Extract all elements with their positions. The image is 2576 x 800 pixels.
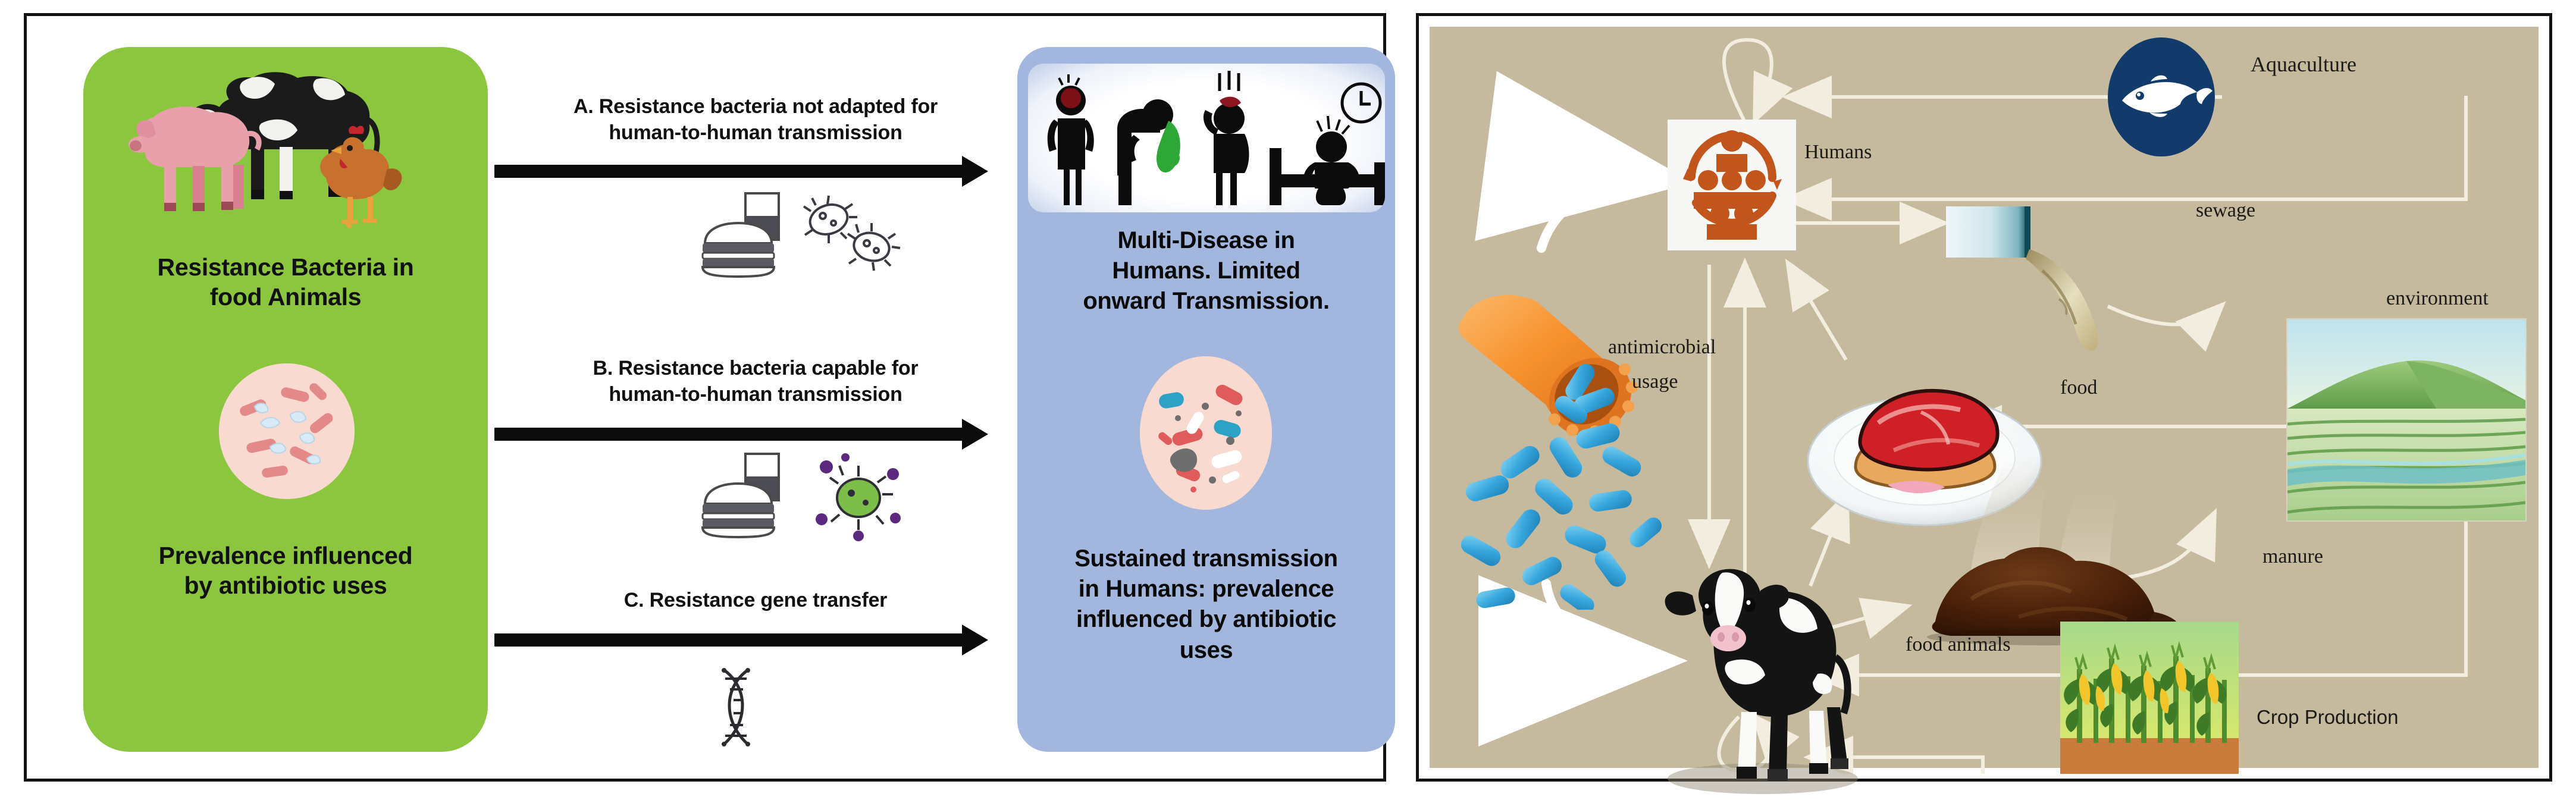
bacteria-outline-icon: [804, 196, 900, 271]
pathway-a-arrow-head: [962, 156, 988, 187]
aquaculture-label: Aquaculture: [2251, 52, 2356, 77]
pathway-c-label: C. Resistance gene transfer: [491, 587, 1020, 613]
dna-helix-icon: [687, 663, 794, 752]
pathway-a-label-line2: human-to-human transmission: [491, 120, 1020, 146]
food-animals-label: food animals: [1906, 633, 2011, 656]
source-box-subtitle: Prevalence influenced by antibiotic uses: [95, 541, 476, 600]
pathway-a: A. Resistance bacteria not adapted for h…: [491, 93, 1020, 272]
pathway-c-label-line1: C. Resistance gene transfer: [491, 587, 1020, 613]
cow-pig-chicken-icon: [83, 58, 488, 254]
pathway-a-label: A. Resistance bacteria not adapted for h…: [491, 93, 1020, 146]
target-box-title: Multi-Disease in Humans. Limited onward …: [1017, 225, 1395, 317]
source-box-title: Resistance Bacteria in food Animals: [95, 252, 476, 312]
crop-production-label: Crop Production: [2257, 706, 2398, 729]
source-subtitle-line1: Prevalence influenced: [95, 541, 476, 570]
target-title-line3: onward Transmission.: [1017, 286, 1395, 316]
target-box-subtitle: Sustained transmission in Humans: preval…: [1017, 544, 1395, 666]
pathway-c: C. Resistance gene transfer: [491, 587, 1020, 760]
target-title-line1: Multi-Disease in: [1017, 225, 1395, 256]
figure-canvas: Resistance Bacteria in food Animals: [0, 0, 2576, 796]
environment-label: environment: [2386, 287, 2489, 310]
target-subtitle-line2: in Humans: prevalence: [1017, 574, 1395, 604]
petri-dish-mixed-bacteria-icon: [1140, 356, 1272, 510]
bacteria-green-icon: [816, 453, 901, 541]
sewage-pipe-icon[interactable]: [1942, 194, 2192, 361]
one-health-canvas: Humans Aquaculture: [1430, 27, 2539, 768]
pathway-c-arrow-head: [962, 625, 988, 655]
manure-label: manure: [2262, 545, 2323, 568]
pathway-c-arrow-shaft: [494, 633, 964, 647]
pathway-a-icons: [669, 189, 919, 278]
humans-label: Humans: [1804, 141, 1872, 164]
source-subtitle-line2: by antibiotic uses: [95, 570, 476, 600]
pathway-b-icons: [669, 449, 919, 544]
calf-icon[interactable]: [1639, 538, 1895, 800]
source-box-food-animals: Resistance Bacteria in food Animals: [83, 47, 488, 752]
pathway-b-label-line2: human-to-human transmission: [491, 381, 1020, 407]
pathway-a-arrow-shaft: [494, 165, 964, 178]
target-subtitle-line4: uses: [1017, 635, 1395, 666]
petri-dish-bacteria-icon: [219, 363, 355, 499]
sick-people-strip-icon: [1028, 64, 1385, 212]
pathway-c-icons: [687, 663, 794, 752]
target-subtitle-line3: influenced by antibiotic: [1017, 604, 1395, 635]
pathway-b-arrow-shaft: [494, 428, 964, 441]
pathway-b-label: B. Resistance bacteria capable for human…: [491, 355, 1020, 407]
burger-drink-icon: [703, 454, 779, 537]
antimicrobial-usage-label-line1: antimicrobial: [1608, 336, 1716, 359]
target-title-line2: Humans. Limited: [1017, 256, 1395, 286]
panel-a-transmission-pathways: Resistance Bacteria in food Animals: [24, 13, 1386, 782]
corn-field-icon[interactable]: [2060, 622, 2239, 774]
fish-circle-icon[interactable]: [2108, 37, 2215, 156]
landscape-field-icon[interactable]: [2286, 318, 2527, 522]
panel-b-one-health-cycle: Humans Aquaculture: [1416, 13, 2552, 782]
animal-icons-group: [83, 58, 488, 254]
target-subtitle-line1: Sustained transmission: [1017, 544, 1395, 574]
sewage-label: sewage: [2196, 199, 2255, 222]
source-title-line2: food Animals: [95, 282, 476, 312]
food-label: food: [2060, 377, 2097, 399]
antimicrobial-usage-label-line2: usage: [1632, 371, 1678, 393]
pathway-b: B. Resistance bacteria capable for human…: [491, 355, 1020, 534]
burger-drink-icon: [703, 193, 779, 277]
pathway-b-arrow-head: [962, 419, 988, 450]
pathway-b-label-line1: B. Resistance bacteria capable for: [491, 355, 1020, 381]
pathway-a-label-line1: A. Resistance bacteria not adapted for: [491, 93, 1020, 120]
target-box-humans: Multi-Disease in Humans. Limited onward …: [1017, 47, 1395, 752]
source-title-line1: Resistance Bacteria in: [95, 252, 476, 282]
